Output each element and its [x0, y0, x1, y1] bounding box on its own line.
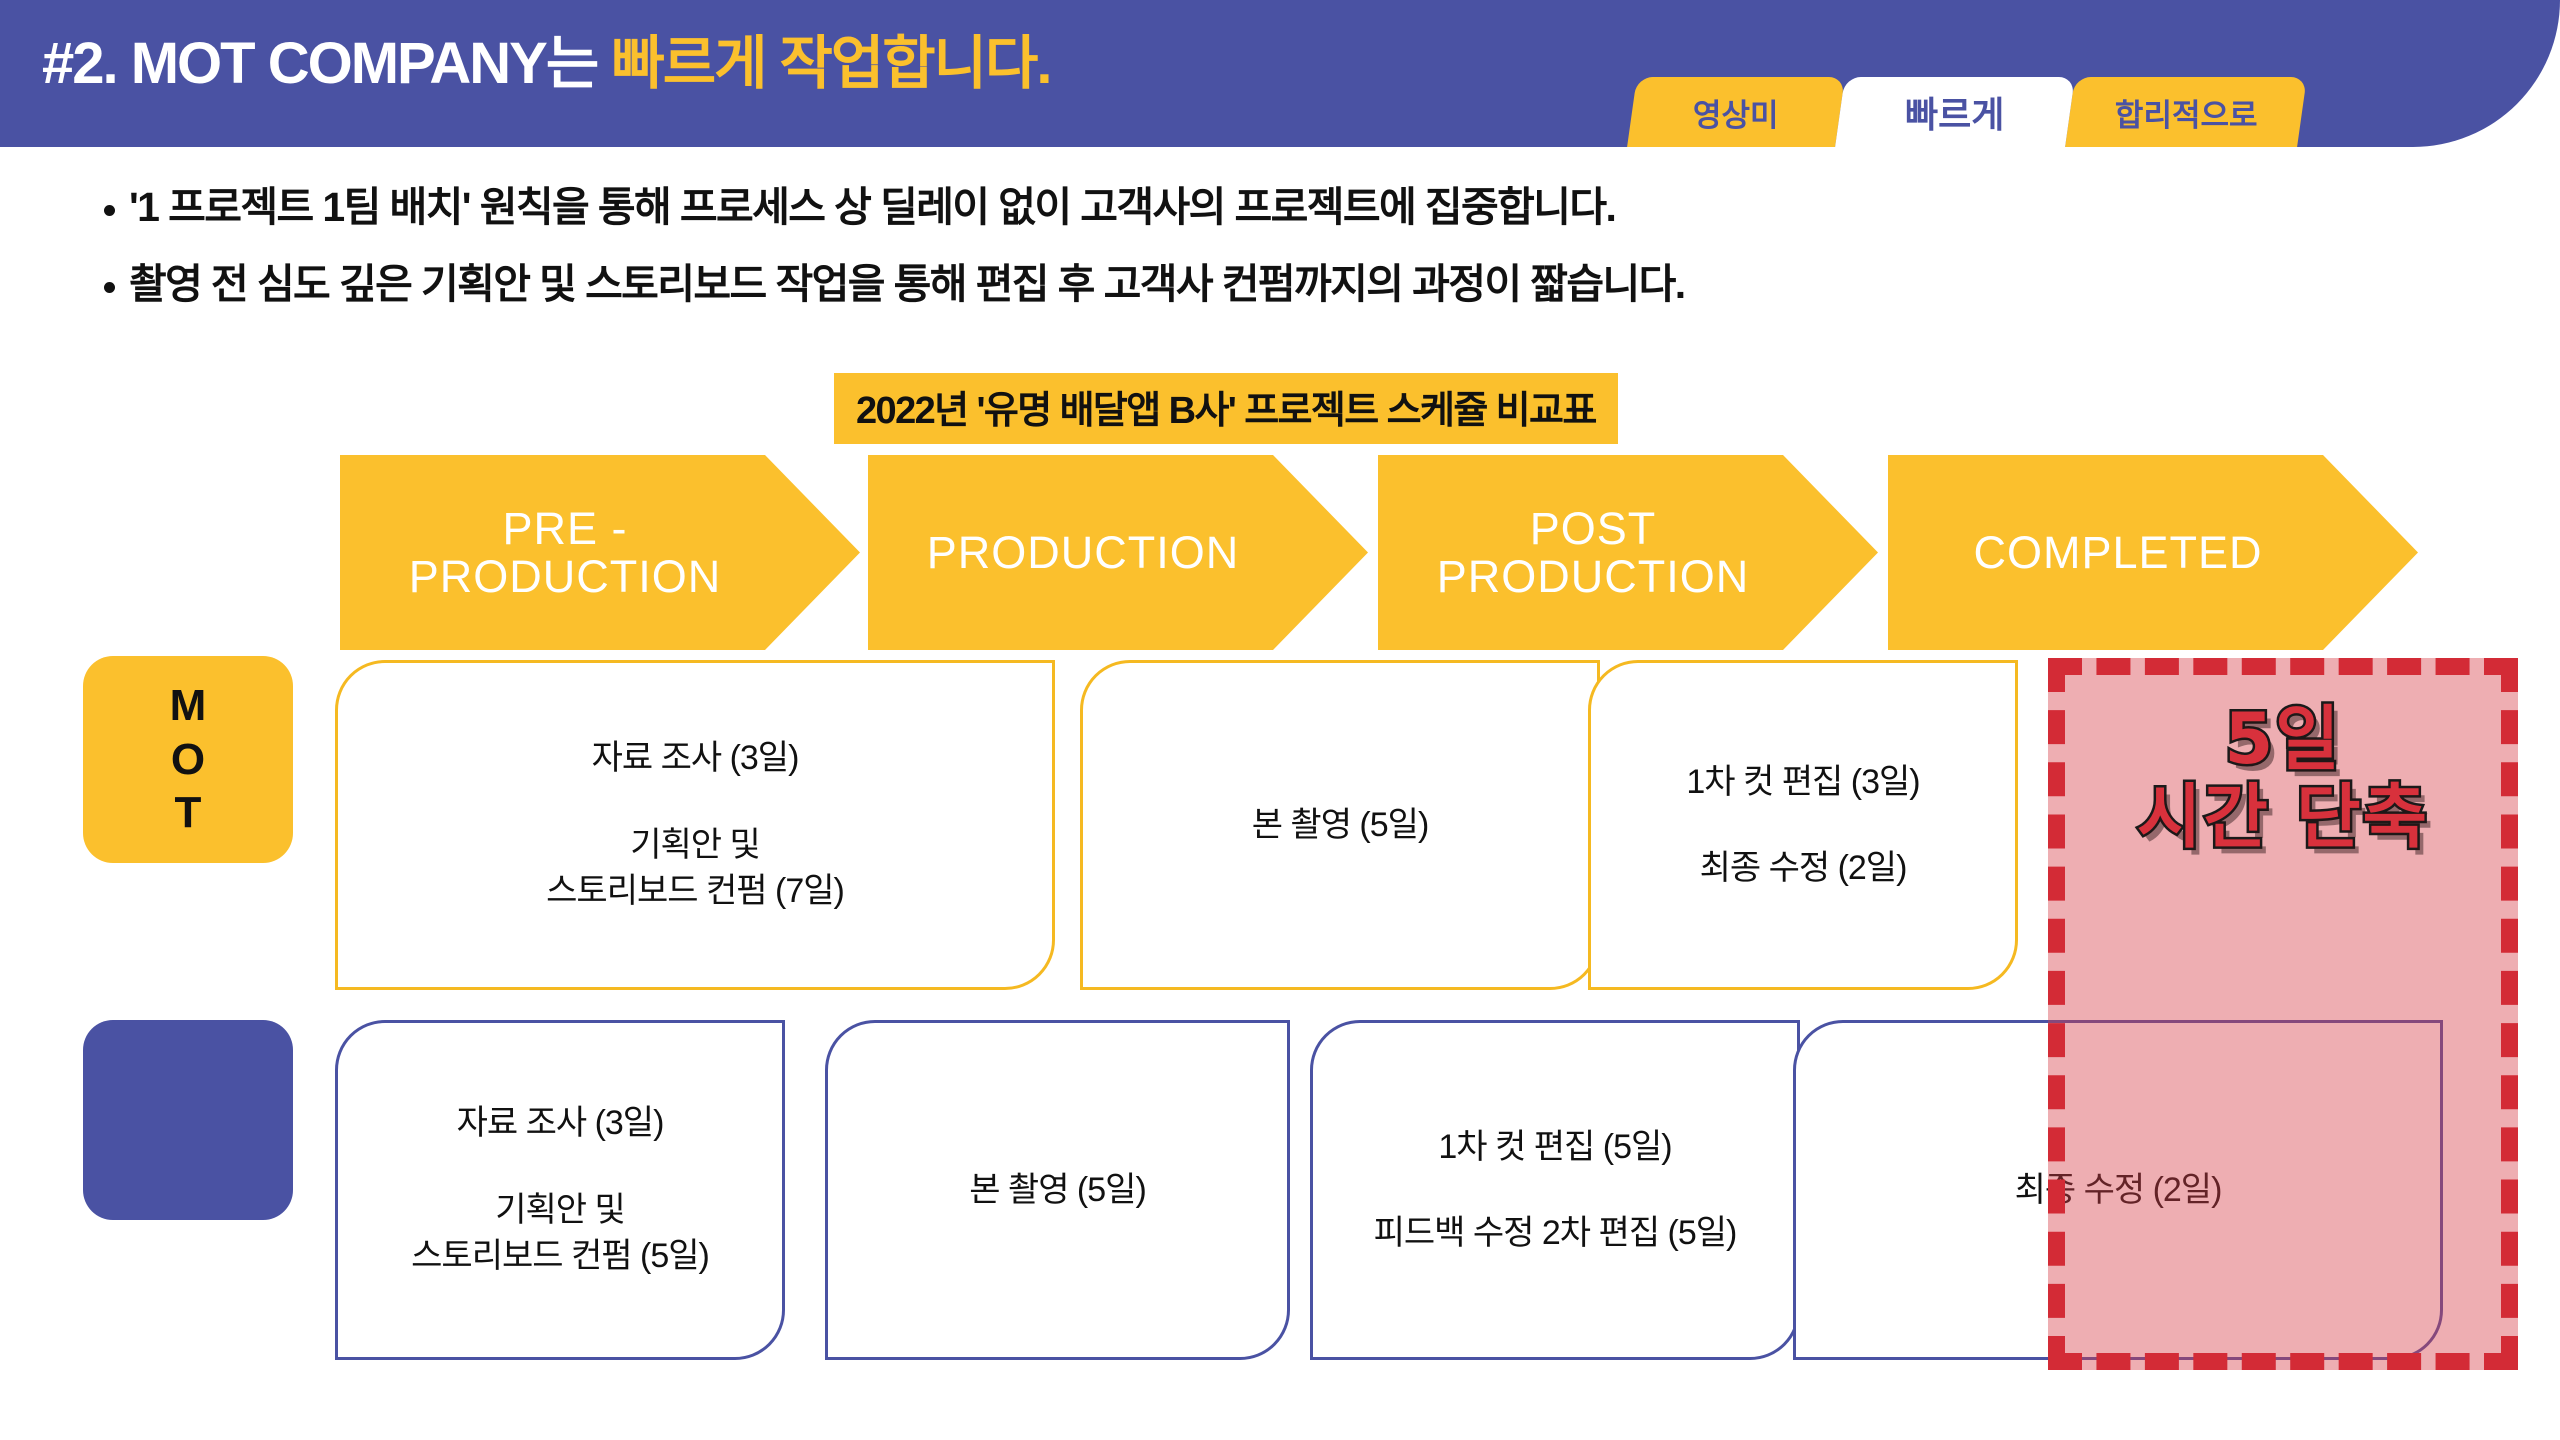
bullet-text-1: 촬영 전 심도 깊은 기획안 및 스토리보드 작업을 통해 편집 후 고객사 컨…	[129, 260, 1685, 309]
bullet-dot-icon	[104, 205, 115, 216]
row-label-mot-char-1: O	[171, 733, 205, 787]
card-other-1-line1: 본 촬영 (5일)	[969, 1169, 1146, 1212]
card-other-2-line1: 1차 컷 편집 (5일)	[1438, 1126, 1671, 1169]
card-mot-0-line1: 자료 조사 (3일)	[592, 737, 799, 780]
schedule-card-other-0: 자료 조사 (3일) 기획안 및 스토리보드 컨펌 (5일)	[335, 1020, 785, 1360]
row-label-mot-char-0: M	[170, 679, 207, 733]
time-saved-line2: 시간 단축	[2048, 778, 2518, 856]
phase-arrow-production: PRODUCTION	[868, 455, 1368, 650]
tab-label-0: 영상미	[1693, 90, 1779, 135]
row-label-mot-char-2: T	[175, 786, 202, 840]
phase-arrow-pre-production: PRE - PRODUCTION	[340, 455, 860, 650]
tab-ppareuge[interactable]: 빠르게	[1835, 77, 2075, 147]
time-saved-highlight-text: 5일 시간 단축	[2048, 700, 2518, 857]
page-title-plain: #2. MOT COMPANY는	[42, 31, 611, 96]
card-other-2-line2: 피드백 수정 2차 편집 (5일)	[1374, 1212, 1737, 1255]
bullet-list: '1 프로젝트 1팀 배치' 원칙을 통해 프로세스 상 딜레이 없이 고객사의…	[104, 183, 2304, 337]
card-mot-0-line3: 스토리보드 컨펌 (7일)	[546, 870, 844, 913]
tab-yeongsangmi[interactable]: 영상미	[1627, 77, 1845, 147]
row-label-other	[83, 1020, 293, 1220]
bullet-item: '1 프로젝트 1팀 배치' 원칙을 통해 프로세스 상 딜레이 없이 고객사의…	[104, 183, 2304, 232]
phase-arrow-row: PRE - PRODUCTION PRODUCTION POST PRODUCT…	[0, 455, 2560, 650]
tab-label-2: 합리적으로	[2115, 90, 2258, 135]
schedule-card-mot-0: 자료 조사 (3일) 기획안 및 스토리보드 컨펌 (7일)	[335, 660, 1055, 990]
schedule-card-mot-1: 본 촬영 (5일)	[1080, 660, 1600, 990]
row-label-mot: M O T	[83, 656, 293, 863]
bullet-text-0: '1 프로젝트 1팀 배치' 원칙을 통해 프로세스 상 딜레이 없이 고객사의…	[129, 183, 1615, 232]
schedule-card-other-1: 본 촬영 (5일)	[825, 1020, 1290, 1360]
card-mot-2-line2: 최종 수정 (2일)	[1700, 847, 1907, 890]
page-title: #2. MOT COMPANY는 빠르게 작업합니다.	[42, 16, 1050, 100]
schedule-card-mot-2: 1차 컷 편집 (3일) 최종 수정 (2일)	[1588, 660, 2018, 990]
time-saved-line1: 5일	[2048, 700, 2518, 778]
tab-hamnijeogeuro[interactable]: 합리적으로	[2065, 77, 2307, 147]
card-mot-1-line1: 본 촬영 (5일)	[1252, 804, 1429, 847]
schedule-caption: 2022년 '유명 배달앱 B사' 프로젝트 스케쥴 비교표	[834, 373, 1618, 444]
phase-label-3-line1: COMPLETED	[1973, 527, 2262, 578]
schedule-card-other-2: 1차 컷 편집 (5일) 피드백 수정 2차 편집 (5일)	[1310, 1020, 1800, 1360]
phase-arrow-completed: COMPLETED	[1888, 455, 2418, 650]
tab-label-1: 빠르게	[1905, 86, 2004, 138]
card-other-0-line2: 기획안 및	[495, 1189, 625, 1232]
page-title-highlight: 빠르게 작업합니다.	[611, 31, 1050, 96]
phase-label-2-line2: PRODUCTION	[1437, 551, 1750, 602]
card-mot-2-line1: 1차 컷 편집 (3일)	[1686, 761, 1919, 804]
phase-label-2-line1: POST	[1530, 503, 1657, 554]
phase-label-0-line1: PRE - PRODUCTION	[409, 503, 722, 601]
card-mot-0-line2: 기획안 및	[630, 824, 760, 867]
card-other-0-line1: 자료 조사 (3일)	[457, 1102, 664, 1145]
phase-label-1-line1: PRODUCTION	[927, 527, 1240, 578]
bullet-item: 촬영 전 심도 깊은 기획안 및 스토리보드 작업을 통해 편집 후 고객사 컨…	[104, 260, 2304, 309]
phase-arrow-post-production: POST PRODUCTION	[1378, 455, 1878, 650]
bullet-dot-icon	[104, 282, 115, 293]
card-other-0-line3: 스토리보드 컨펌 (5일)	[411, 1235, 709, 1278]
tab-bar: 영상미 빠르게 합리적으로	[1632, 77, 2302, 147]
